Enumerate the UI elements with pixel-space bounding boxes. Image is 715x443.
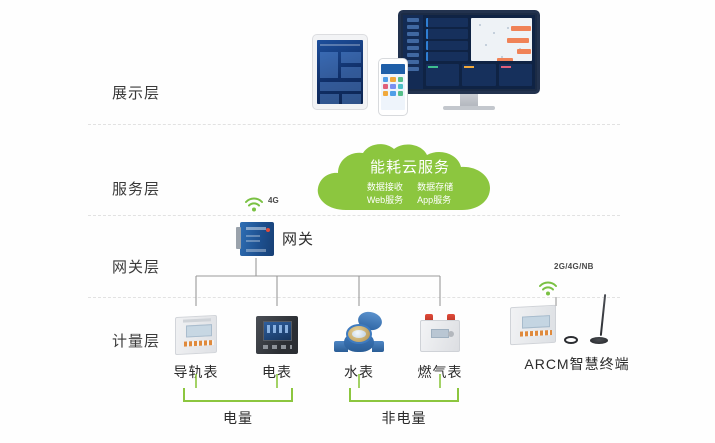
gas-meter-icon [395, 304, 485, 354]
electric-meter-icon [232, 306, 322, 354]
water-meter-icon [314, 302, 404, 354]
meter-electric: 电表 [232, 306, 322, 382]
layer-separator-3 [88, 297, 620, 298]
presentation-devices [300, 8, 540, 120]
bracket-electric-group: 电量 [183, 388, 293, 428]
gateway-label: 网关 [282, 228, 314, 249]
wifi-icon [538, 280, 558, 296]
meter-label-electric: 电表 [232, 362, 322, 382]
meter-din-rail: 导轨表 [151, 306, 241, 382]
gateway-device [240, 222, 274, 256]
arcm-device-icon [510, 306, 560, 346]
gateway-connector [236, 227, 241, 249]
meter-label-gas: 燃气表 [395, 362, 485, 382]
tablet-device [312, 34, 368, 110]
antenna-icon [564, 294, 608, 350]
gateway-node: 4G 网关 [232, 196, 342, 258]
phone-device [378, 58, 408, 116]
bracket-shape [349, 388, 459, 402]
wifi-icon [244, 196, 264, 212]
tablet-screen [317, 40, 363, 104]
meter-gas: 燃气表 [395, 304, 485, 382]
gateway-uplink-label: 4G [268, 196, 279, 205]
arcm-terminal-label: ARCM智慧终端 [492, 354, 662, 374]
dashboard-map [471, 18, 532, 61]
monitor-stand-base [443, 106, 495, 110]
layer-separator-2 [88, 215, 620, 216]
bracket-shape [183, 388, 293, 402]
dashboard-widgets [426, 64, 532, 86]
meter-label-water: 水表 [314, 362, 404, 382]
meter-water: 水表 [314, 302, 404, 382]
architecture-diagram: 展示层 服务层 网关层 计量层 [0, 0, 715, 443]
bracket-label-non-electric: 非电量 [349, 408, 459, 428]
bracket-label-electric: 电量 [183, 408, 293, 428]
din-rail-meter-icon [151, 306, 241, 354]
meter-label-din-rail: 导轨表 [151, 362, 241, 382]
dashboard-stat-cards [426, 18, 468, 61]
phone-screen [381, 64, 405, 110]
layer-label-service: 服务层 [112, 178, 160, 199]
bracket-non-electric-group: 非电量 [349, 388, 459, 428]
arcm-network-label: 2G/4G/NB [554, 262, 594, 271]
layer-label-gateway: 网关层 [112, 256, 160, 277]
monitor-screen [398, 10, 540, 94]
monitor-stand-neck [460, 94, 478, 106]
layer-separator-1 [88, 124, 620, 125]
layer-label-presentation: 展示层 [112, 82, 160, 103]
monitor-device [398, 10, 540, 120]
